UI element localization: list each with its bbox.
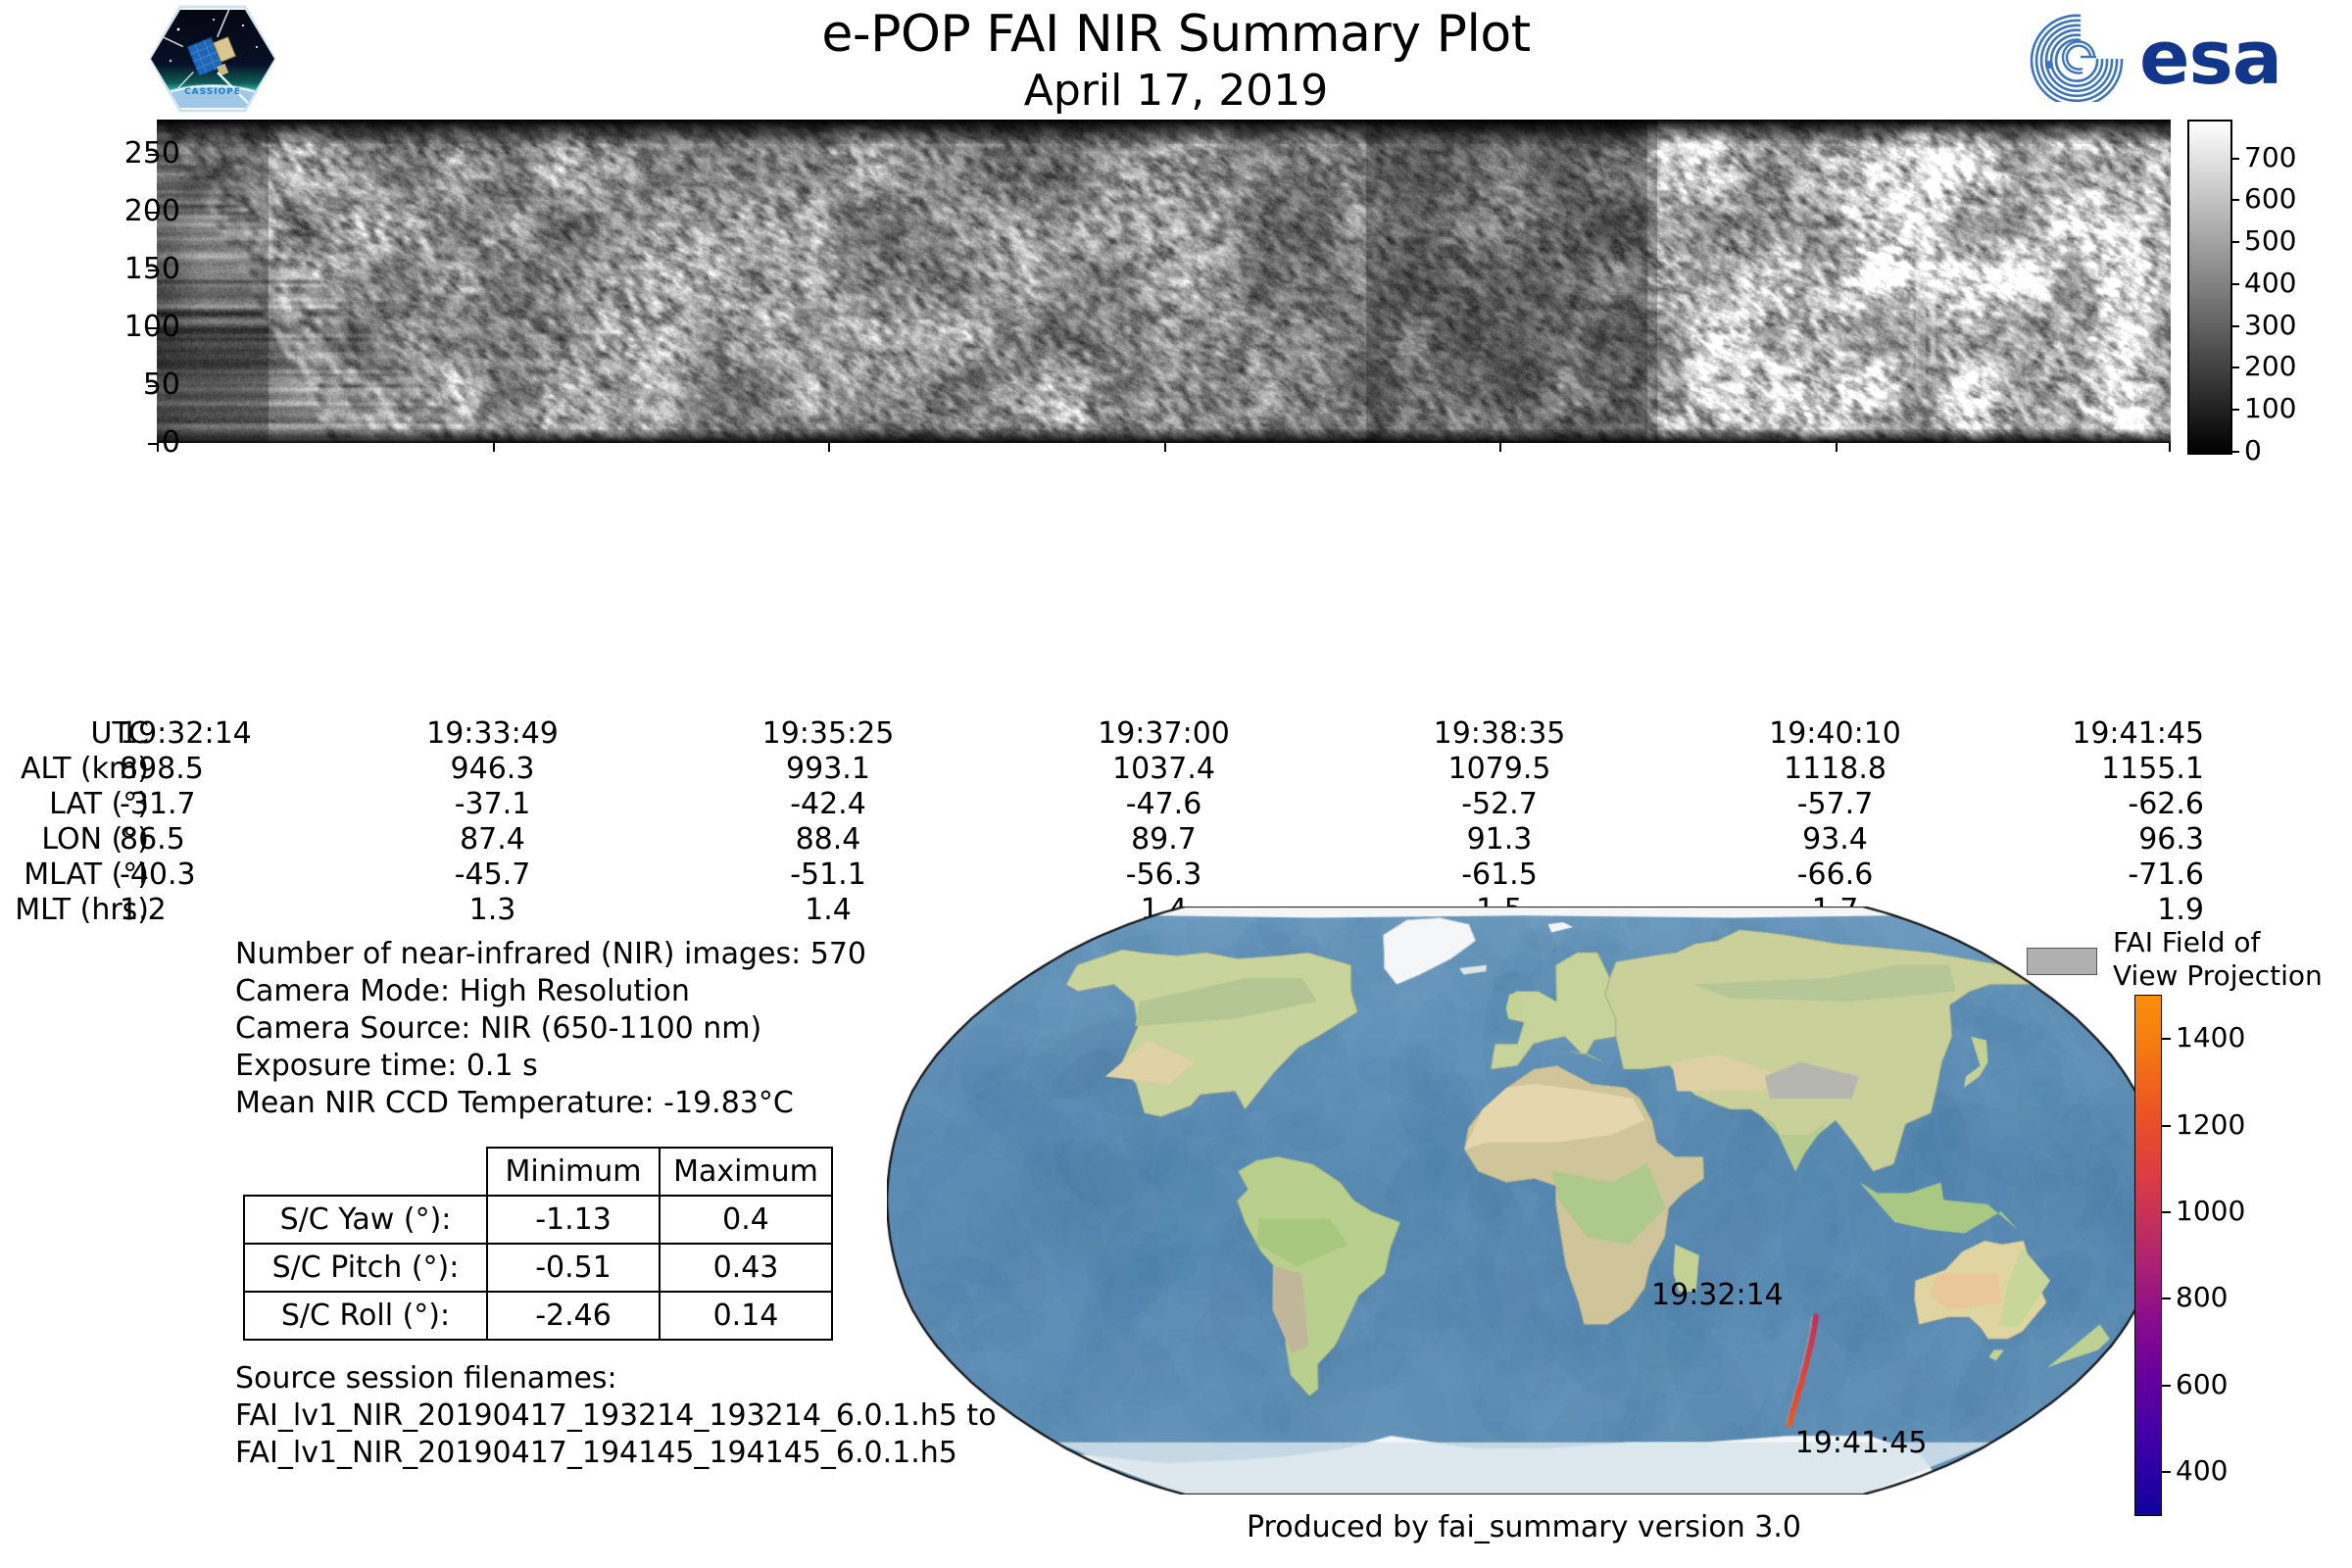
- ephemeris-cell: -45.7: [375, 858, 611, 892]
- map-end-time-label: 19:41:45: [1795, 1427, 1928, 1460]
- keogram-ytick-50: 50: [63, 370, 180, 400]
- signal-colorbar-tick-200: 200: [2244, 353, 2296, 380]
- keogram-ytick-150: 150: [63, 255, 180, 284]
- ephemeris-cell: -52.7: [1382, 788, 1617, 821]
- ephemeris-cell: 19:32:14: [120, 717, 355, 751]
- ephemeris-cell: -40.3: [120, 858, 355, 892]
- altitude-colorbar-tick-mark: [2162, 1385, 2171, 1387]
- ephemeris-cell: 89.7: [1047, 823, 1282, 857]
- altitude-colorbar-tick-400: 400: [2176, 1457, 2228, 1485]
- title-block: e-POP FAI NIR Summary Plot April 17, 201…: [588, 4, 1764, 118]
- roll-max: 0.14: [660, 1292, 832, 1340]
- table-header-row: Minimum Maximum: [244, 1148, 832, 1196]
- page-title: e-POP FAI NIR Summary Plot: [588, 4, 1764, 65]
- map-start-time-label: 19:32:14: [1651, 1279, 1784, 1312]
- altitude-colorbar-tick-1200: 1200: [2176, 1111, 2245, 1139]
- spacecraft-attitude-table: Minimum Maximum S/C Yaw (°): -1.13 0.4 S…: [243, 1147, 833, 1341]
- ephemeris-cell: 88.4: [710, 823, 946, 857]
- ephemeris-cell: -31.7: [120, 788, 355, 821]
- ephemeris-cell: 19:40:10: [1718, 717, 1953, 751]
- altitude-colorbar-tick-mark: [2162, 1298, 2171, 1299]
- ephemeris-cell: -61.5: [1382, 858, 1617, 892]
- column-header-maximum: Maximum: [660, 1148, 832, 1196]
- signal-colorbar-tick-400: 400: [2244, 269, 2296, 297]
- fov-legend-swatch: [2027, 948, 2097, 975]
- keogram-xtick-mark: [1164, 443, 1166, 452]
- altitude-colorbar-tick-mark: [2162, 1471, 2171, 1473]
- ephemeris-cell: 898.5: [120, 753, 355, 786]
- altitude-colorbar-tick-1000: 1000: [2176, 1198, 2245, 1225]
- signal-colorbar-tick-700: 700: [2244, 144, 2296, 171]
- ephemeris-cell: -37.1: [375, 788, 611, 821]
- info-line-mode: Camera Mode: High Resolution: [235, 973, 866, 1010]
- pitch-min: -0.51: [487, 1244, 660, 1292]
- ephemeris-cell: -56.3: [1047, 858, 1282, 892]
- yaw-max: 0.4: [660, 1196, 832, 1244]
- fov-legend-label-line2: View Projection: [2113, 959, 2323, 993]
- ephemeris-cell: 1037.4: [1047, 753, 1282, 786]
- signal-colorbar-tick-0: 0: [2244, 437, 2262, 465]
- signal-colorbar-tick-mark: [2230, 283, 2239, 285]
- keogram-ytick-200: 200: [63, 197, 180, 226]
- altitude-colorbar-tick-1400: 1400: [2176, 1024, 2245, 1052]
- keogram-xtick-mark: [1499, 443, 1501, 452]
- altitude-colorbar: [2134, 995, 2162, 1516]
- keogram-image: [157, 120, 2171, 443]
- ephemeris-row-mlat: MLAT (°)-40.3-45.7-51.1-56.3-61.5-66.6-7…: [0, 858, 2352, 892]
- signal-colorbar-tick-mark: [2230, 199, 2239, 201]
- info-line-source: Camera Source: NIR (650-1100 nm): [235, 1010, 866, 1048]
- ephemeris-cell: 19:37:00: [1047, 717, 1282, 751]
- esa-logo: esa: [2024, 14, 2308, 102]
- world-map-canvas: [887, 906, 2161, 1494]
- fov-legend-label: FAI Field of View Projection: [2113, 926, 2323, 993]
- ephemeris-cell: 87.4: [375, 823, 611, 857]
- cassiope-logo-text: CASSIOPE: [184, 87, 241, 97]
- row-label-yaw: S/C Yaw (°):: [244, 1196, 487, 1244]
- ephemeris-cell: 86.5: [120, 823, 355, 857]
- table-row: S/C Roll (°): -2.46 0.14: [244, 1292, 832, 1340]
- signal-colorbar-tick-500: 500: [2244, 227, 2296, 255]
- ephemeris-cell: 19:33:49: [375, 717, 611, 751]
- keogram-ytick-mark: [148, 385, 157, 387]
- signal-colorbar-tick-mark: [2230, 451, 2239, 453]
- esa-wordmark: esa: [2139, 16, 2281, 100]
- ephemeris-cell: 1.3: [375, 894, 611, 927]
- ephemeris-cell: 993.1: [710, 753, 946, 786]
- keogram-ytick-mark: [148, 154, 157, 156]
- keogram-canvas: [157, 120, 2171, 443]
- info-line-images: Number of near-infrared (NIR) images: 57…: [235, 936, 866, 973]
- keogram-ytick-mark: [148, 269, 157, 271]
- ephemeris-cell: -51.1: [710, 858, 946, 892]
- filename-first: FAI_lv1_NIR_20190417_193214_193214_6.0.1…: [235, 1397, 997, 1435]
- ephemeris-row-lat: LAT (°)-31.7-37.1-42.4-47.6-52.7-57.7-62…: [0, 788, 2352, 821]
- keogram-xtick-mark: [1836, 443, 1837, 452]
- keogram-ytick-100: 100: [63, 313, 180, 342]
- ephemeris-cell: 93.4: [1718, 823, 1953, 857]
- keogram-y-axis-label: Infrared Camera Centre Column Row Number: [0, 155, 1, 449]
- ephemeris-cell: 19:38:35: [1382, 717, 1617, 751]
- ephemeris-cell: -47.6: [1047, 788, 1282, 821]
- info-line-ccd-temp: Mean NIR CCD Temperature: -19.83°C: [235, 1085, 866, 1122]
- source-filenames-block: Source session filenames: FAI_lv1_NIR_20…: [235, 1360, 997, 1472]
- filenames-heading: Source session filenames:: [235, 1360, 997, 1397]
- altitude-colorbar-tick-mark: [2162, 1038, 2171, 1040]
- ephemeris-cell: 19:41:45: [1969, 717, 2204, 751]
- ephemeris-row-utc: UTC19:32:1419:33:4919:35:2519:37:0019:38…: [0, 717, 2352, 751]
- keogram-xtick-mark: [493, 443, 495, 452]
- info-line-exposure: Exposure time: 0.1 s: [235, 1048, 866, 1085]
- signal-colorbar-tick-mark: [2230, 367, 2239, 368]
- ephemeris-cell: 91.3: [1382, 823, 1617, 857]
- keogram-ytick-mark: [148, 443, 157, 445]
- ephemeris-cell: -62.6: [1969, 788, 2204, 821]
- row-label-roll: S/C Roll (°):: [244, 1292, 487, 1340]
- signal-colorbar-tick-mark: [2230, 241, 2239, 243]
- corner-cell: [244, 1148, 487, 1196]
- signal-colorbar-tick-mark: [2230, 325, 2239, 327]
- ephemeris-cell: -42.4: [710, 788, 946, 821]
- ephemeris-cell: 1118.8: [1718, 753, 1953, 786]
- ephemeris-cell: -57.7: [1718, 788, 1953, 821]
- ephemeris-cell: 1155.1: [1969, 753, 2204, 786]
- signal-colorbar-tick-mark: [2230, 409, 2239, 411]
- ephemeris-cell: 1.2: [120, 894, 355, 927]
- cassiope-logo: CASSIOPE: [149, 4, 276, 114]
- ephemeris-cell: 19:35:25: [710, 717, 946, 751]
- ephemeris-cell: 1079.5: [1382, 753, 1617, 786]
- pitch-max: 0.43: [660, 1244, 832, 1292]
- keogram-ytick-0: 0: [63, 428, 180, 458]
- signal-colorbar-tick-mark: [2230, 158, 2239, 160]
- keogram-xtick-mark: [157, 443, 159, 452]
- acquisition-info-block: Number of near-infrared (NIR) images: 57…: [235, 936, 866, 1122]
- y-axis-line-3: Row Number: [0, 155, 1, 449]
- filename-last: FAI_lv1_NIR_20190417_194145_194145_6.0.1…: [235, 1435, 997, 1472]
- altitude-colorbar-tick-600: 600: [2176, 1371, 2228, 1398]
- ephemeris-cell: 946.3: [375, 753, 611, 786]
- keogram-xtick-mark: [828, 443, 830, 452]
- keogram-ytick-mark: [148, 327, 157, 329]
- column-header-minimum: Minimum: [487, 1148, 660, 1196]
- page-header: CASSIOPE e-POP FAI NIR Summary Plot Apri…: [0, 0, 2352, 118]
- esa-swirl-icon: [2024, 14, 2133, 102]
- signal-colorbar-tick-300: 300: [2244, 312, 2296, 339]
- keogram-xtick-mark: [2169, 443, 2171, 452]
- signal-colorbar: [2187, 120, 2232, 455]
- ephemeris-cell: 96.3: [1969, 823, 2204, 857]
- keogram-ytick-mark: [148, 212, 157, 214]
- altitude-colorbar-tick-800: 800: [2176, 1284, 2228, 1311]
- keogram-ytick-250: 250: [63, 139, 180, 169]
- signal-colorbar-tick-100: 100: [2244, 395, 2296, 422]
- altitude-colorbar-tick-mark: [2162, 1211, 2171, 1213]
- ephemeris-row-lon: LON (°)86.587.488.489.791.393.496.3: [0, 823, 2352, 857]
- ephemeris-cell: -71.6: [1969, 858, 2204, 892]
- table-row: S/C Yaw (°): -1.13 0.4: [244, 1196, 832, 1244]
- world-map-panel: 19:32:14 19:41:45: [887, 906, 2161, 1494]
- ephemeris-cell: -66.6: [1718, 858, 1953, 892]
- row-label-pitch: S/C Pitch (°):: [244, 1244, 487, 1292]
- footer-note: Produced by fai_summary version 3.0: [887, 1510, 2161, 1545]
- table-row: S/C Pitch (°): -0.51 0.43: [244, 1244, 832, 1292]
- roll-min: -2.46: [487, 1292, 660, 1340]
- page-subtitle: April 17, 2019: [588, 65, 1764, 118]
- altitude-colorbar-tick-mark: [2162, 1125, 2171, 1127]
- ephemeris-row-alt: ALT (km)898.5946.3993.11037.41079.51118.…: [0, 753, 2352, 786]
- keogram-panel: Infrared Camera Centre Column Row Number: [0, 116, 2352, 684]
- signal-colorbar-tick-600: 600: [2244, 185, 2296, 213]
- yaw-min: -1.13: [487, 1196, 660, 1244]
- fov-legend-label-line1: FAI Field of: [2113, 926, 2323, 959]
